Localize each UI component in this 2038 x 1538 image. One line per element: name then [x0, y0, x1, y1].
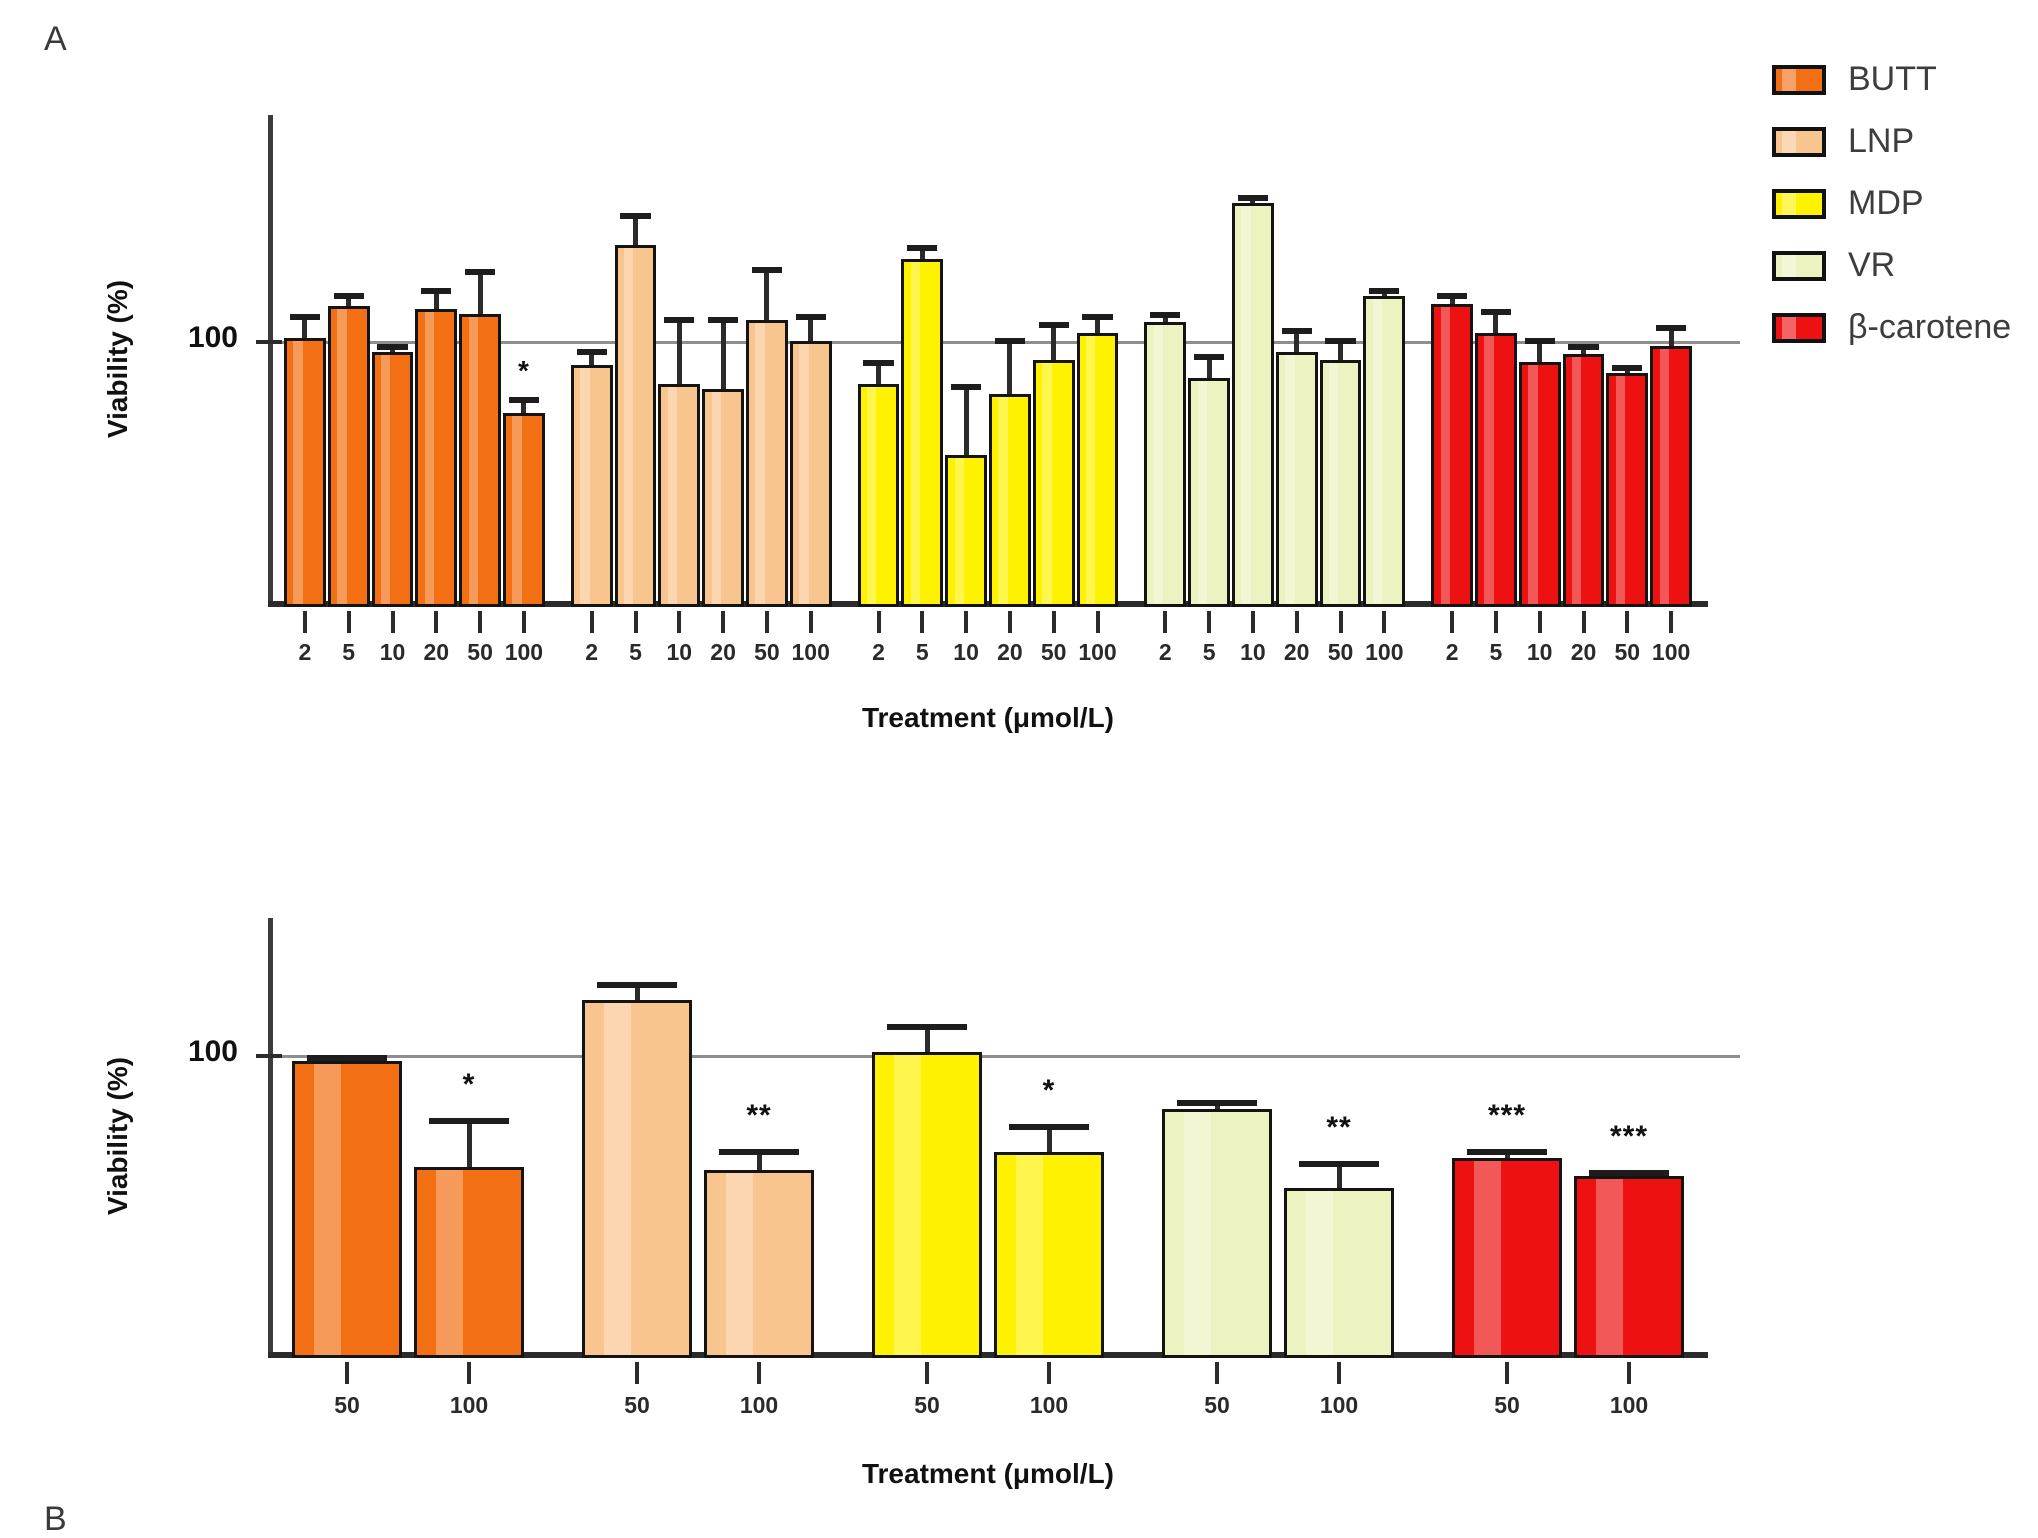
- bar-lnp-50: [582, 1000, 692, 1358]
- x-tick-mark: [1295, 611, 1299, 633]
- bar-highlight: [1306, 1191, 1333, 1355]
- bar-highlight: [755, 323, 764, 604]
- legend-swatch-highlight: [1782, 131, 1796, 153]
- bar-vr-2: [1144, 322, 1186, 607]
- bar-highlight: [1660, 349, 1669, 604]
- x-tick-mark: [1163, 611, 1167, 633]
- error-bar-cap: [1325, 338, 1355, 344]
- x-tick-mark: [809, 611, 813, 633]
- error-bar: [964, 384, 969, 456]
- bar-highlight: [1616, 376, 1625, 604]
- x-tick-mark: [964, 611, 968, 633]
- bar-vr-100: [1363, 296, 1405, 607]
- error-bar: [677, 317, 682, 383]
- legend-item-vr[interactable]: VR: [1772, 246, 1895, 285]
- x-tick-label: 50: [592, 1392, 682, 1419]
- panel-b-y-axis-title: Viability (%): [102, 916, 134, 1356]
- bar-highlight: [314, 1064, 341, 1355]
- error-bar: [721, 317, 726, 389]
- legend-item-label: BUTT: [1848, 60, 1937, 99]
- panel-b-y-tick-label-100: 100: [118, 1035, 238, 1069]
- error-bar-cap: [1150, 312, 1180, 318]
- x-tick-mark: [467, 1362, 471, 1384]
- bar-butt-10: [372, 352, 414, 607]
- bar-highlight: [894, 1055, 921, 1355]
- x-tick-mark: [1382, 611, 1386, 633]
- error-bar-cap: [1009, 1124, 1088, 1130]
- error-bar-cap: [1437, 293, 1467, 299]
- error-bar-cap: [1299, 1161, 1378, 1167]
- bar-highlight: [1184, 1112, 1211, 1355]
- bar-mdp-2: [858, 384, 900, 607]
- error-bar-cap: [1589, 1170, 1668, 1176]
- x-tick-mark: [1627, 1362, 1631, 1384]
- error-bar-cap: [1282, 328, 1312, 334]
- bar-highlight: [955, 458, 964, 604]
- x-tick-mark: [1008, 611, 1012, 633]
- bar-β-carotene-10: [1519, 362, 1561, 607]
- legend-swatch-highlight: [1782, 69, 1796, 91]
- bar-mdp-10: [945, 455, 987, 607]
- figure-root: A Viability (%) * 100 251020501002510205…: [0, 0, 2038, 1507]
- error-bar-cap: [465, 269, 495, 275]
- legend-swatch-icon: [1772, 313, 1826, 343]
- legend-item-lnp[interactable]: LNP: [1772, 122, 1914, 161]
- x-tick-label: 100: [1626, 639, 1716, 666]
- x-tick-mark: [434, 611, 438, 633]
- bar-β-carotene-100: [1574, 1176, 1684, 1358]
- error-bar-cap: [334, 293, 364, 299]
- legend-swatch-icon: [1772, 251, 1826, 281]
- error-bar-cap: [1082, 314, 1112, 320]
- bar-vr-5: [1188, 378, 1230, 607]
- bar-highlight: [799, 344, 808, 604]
- error-bar-cap: [1656, 325, 1686, 331]
- bar-lnp-100: [704, 1170, 814, 1358]
- legend-swatch-highlight: [1782, 317, 1796, 339]
- x-tick-mark: [757, 1362, 761, 1384]
- x-tick-label: 50: [882, 1392, 972, 1419]
- bar-mdp-50: [1033, 360, 1075, 607]
- bar-highlight: [469, 317, 478, 604]
- legend-item-mdp[interactable]: MDP: [1772, 184, 1924, 223]
- legend-swatch-highlight: [1782, 193, 1796, 215]
- bar-vr-100: [1284, 1188, 1394, 1358]
- bar-highlight: [512, 416, 521, 604]
- legend-item-label: LNP: [1848, 122, 1914, 161]
- x-tick-label: 100: [1004, 1392, 1094, 1419]
- error-bar-cap: [1525, 338, 1555, 344]
- error-bar-cap: [307, 1055, 386, 1061]
- bar-highlight: [604, 1003, 631, 1355]
- bar-lnp-100: [790, 341, 832, 607]
- bar-highlight: [1042, 363, 1051, 604]
- bar-β-carotene-20: [1563, 354, 1605, 607]
- bar-mdp-100: [1077, 333, 1119, 607]
- bar-vr-50: [1320, 360, 1362, 607]
- bar-highlight: [337, 309, 346, 604]
- bar-butt-100: [414, 1167, 524, 1358]
- error-bar-cap: [708, 317, 738, 323]
- panel-a-plot-area: *: [268, 115, 1708, 607]
- error-bar: [764, 267, 769, 320]
- legend-item-label: VR: [1848, 246, 1895, 285]
- bar-highlight: [1285, 355, 1294, 604]
- x-tick-mark: [1052, 611, 1056, 633]
- x-tick-mark: [1505, 1362, 1509, 1384]
- significance-marker: *: [429, 1070, 509, 1100]
- error-bar-cap: [1568, 344, 1598, 350]
- x-tick-mark: [522, 611, 526, 633]
- x-tick-mark: [391, 611, 395, 633]
- bar-lnp-50: [746, 320, 788, 607]
- x-tick-label: 100: [1294, 1392, 1384, 1419]
- error-bar-cap: [1177, 1100, 1256, 1106]
- x-tick-mark: [347, 611, 351, 633]
- x-tick-mark: [1339, 611, 1343, 633]
- significance-marker: ***: [1467, 1101, 1547, 1131]
- bar-highlight: [1373, 299, 1382, 604]
- bar-highlight: [436, 1170, 463, 1355]
- bar-highlight: [425, 312, 434, 604]
- error-bar-cap: [951, 384, 981, 390]
- bar-highlight: [624, 248, 633, 604]
- legend-item-label: MDP: [1848, 184, 1924, 223]
- bar-highlight: [381, 355, 390, 604]
- legend-swatch-icon: [1772, 127, 1826, 157]
- bar-highlight: [1329, 363, 1338, 604]
- error-bar-cap: [429, 1118, 508, 1124]
- error-bar-cap: [664, 317, 694, 323]
- x-tick-label: 50: [1172, 1392, 1262, 1419]
- bar-highlight: [580, 368, 589, 604]
- error-bar-cap: [1369, 288, 1399, 294]
- x-tick-mark: [303, 611, 307, 633]
- bar-butt-5: [328, 306, 370, 607]
- bar-highlight: [1154, 325, 1163, 604]
- error-bar: [467, 1118, 472, 1167]
- error-bar-cap: [620, 213, 650, 219]
- bar-vr-20: [1276, 352, 1318, 607]
- bar-butt-100: [503, 413, 545, 607]
- bar-lnp-10: [658, 384, 700, 607]
- error-bar-cap: [995, 338, 1025, 344]
- x-tick-mark: [1582, 611, 1586, 633]
- x-tick-mark: [877, 611, 881, 633]
- bar-highlight: [293, 341, 302, 604]
- bar-highlight: [1474, 1161, 1501, 1355]
- x-tick-mark: [1337, 1362, 1341, 1384]
- x-tick-label: 100: [714, 1392, 804, 1419]
- x-tick-mark: [478, 611, 482, 633]
- significance-marker: ***: [1589, 1122, 1669, 1152]
- bar-lnp-20: [702, 389, 744, 607]
- error-bar-cap: [597, 982, 676, 988]
- bar-butt-2: [284, 338, 326, 607]
- x-tick-label: 100: [424, 1392, 514, 1419]
- bar-butt-20: [415, 309, 457, 607]
- significance-marker: **: [1299, 1113, 1379, 1143]
- bar-vr-10: [1232, 203, 1274, 607]
- significance-marker: **: [719, 1101, 799, 1131]
- legend: BUTTLNPMDPVRβ-carotene: [1772, 60, 2038, 380]
- x-tick-mark: [677, 611, 681, 633]
- bar-highlight: [1596, 1179, 1623, 1355]
- panel-a-y-tick-label-100: 100: [118, 321, 238, 355]
- x-tick-mark: [1215, 1362, 1219, 1384]
- panel-b: B Viability (%) ************ 100 5010050…: [0, 740, 2038, 1507]
- bar-highlight: [1572, 357, 1581, 604]
- x-tick-mark: [1096, 611, 1100, 633]
- x-tick-mark: [590, 611, 594, 633]
- error-bar: [478, 269, 483, 314]
- panel-b-x-axis-title: Treatment (μmol/L): [268, 1458, 1708, 1490]
- x-tick-mark: [1047, 1362, 1051, 1384]
- panel-a-y-axis-title: Viability (%): [102, 113, 134, 605]
- legend-swatch-highlight: [1782, 255, 1796, 277]
- x-tick-mark: [765, 611, 769, 633]
- panel-a-x-axis-title: Treatment (μmol/L): [268, 702, 1708, 734]
- error-bar-cap: [1194, 354, 1224, 360]
- significance-marker: *: [1009, 1076, 1089, 1106]
- bar-mdp-5: [901, 259, 943, 607]
- x-tick-mark: [1207, 611, 1211, 633]
- bar-highlight: [1241, 206, 1250, 604]
- bar-highlight: [712, 392, 721, 604]
- error-bar-cap: [887, 1024, 966, 1030]
- error-bar-cap: [290, 314, 320, 320]
- error-bar-cap: [752, 267, 782, 273]
- x-tick-mark: [1251, 611, 1255, 633]
- bar-β-carotene-50: [1452, 1158, 1562, 1358]
- error-bar-cap: [907, 245, 937, 251]
- x-tick-mark: [920, 611, 924, 633]
- error-bar-cap: [1039, 322, 1069, 328]
- bar-highlight: [1086, 336, 1095, 604]
- bar-mdp-50: [872, 1052, 982, 1358]
- bar-β-carotene-50: [1606, 373, 1648, 607]
- bar-highlight: [1198, 381, 1207, 604]
- legend-item-label: β-carotene: [1848, 308, 2011, 347]
- error-bar-cap: [509, 397, 539, 403]
- bar-lnp-2: [571, 365, 613, 607]
- bar-highlight: [911, 262, 920, 604]
- error-bar-cap: [1612, 365, 1642, 371]
- bar-highlight: [867, 387, 876, 604]
- legend-item-carotene[interactable]: β-carotene: [1772, 308, 2011, 347]
- error-bar-cap: [863, 360, 893, 366]
- x-tick-mark: [1494, 611, 1498, 633]
- panel-b-bars-layer: ************: [268, 918, 1708, 1358]
- bar-highlight: [668, 387, 677, 604]
- significance-marker: *: [484, 357, 564, 385]
- legend-swatch-icon: [1772, 189, 1826, 219]
- bar-β-carotene-5: [1475, 333, 1517, 607]
- x-tick-label: 100: [1584, 1392, 1674, 1419]
- panel-letter-a: A: [44, 22, 67, 56]
- panel-letter-b: B: [44, 1502, 67, 1536]
- error-bar-cap: [1238, 195, 1268, 201]
- bar-highlight: [1016, 1155, 1043, 1355]
- bar-β-carotene-100: [1650, 346, 1692, 607]
- error-bar-cap: [421, 288, 451, 294]
- bar-highlight: [998, 397, 1007, 604]
- panel-a: A Viability (%) * 100 251020501002510205…: [0, 0, 2038, 720]
- error-bar-cap: [577, 349, 607, 355]
- x-tick-label: 50: [1462, 1392, 1552, 1419]
- error-bar-cap: [1481, 309, 1511, 315]
- bar-butt-50: [292, 1061, 402, 1358]
- legend-item-butt[interactable]: BUTT: [1772, 60, 1937, 99]
- error-bar: [1007, 338, 1012, 394]
- bar-highlight: [1441, 307, 1450, 604]
- x-tick-mark: [925, 1362, 929, 1384]
- x-tick-mark: [1538, 611, 1542, 633]
- error-bar-cap: [1467, 1149, 1546, 1155]
- bar-vr-50: [1162, 1109, 1272, 1358]
- bar-lnp-5: [615, 245, 657, 607]
- bar-mdp-100: [994, 1152, 1104, 1358]
- x-tick-label: 50: [302, 1392, 392, 1419]
- x-tick-mark: [635, 1362, 639, 1384]
- x-tick-mark: [1669, 611, 1673, 633]
- x-tick-mark: [721, 611, 725, 633]
- x-tick-mark: [634, 611, 638, 633]
- bar-highlight: [726, 1173, 753, 1355]
- legend-swatch-icon: [1772, 65, 1826, 95]
- bar-β-carotene-2: [1431, 304, 1473, 607]
- x-tick-mark: [345, 1362, 349, 1384]
- error-bar-cap: [796, 314, 826, 320]
- bar-highlight: [1528, 365, 1537, 604]
- x-tick-mark: [1625, 611, 1629, 633]
- x-tick-mark: [1450, 611, 1454, 633]
- panel-a-bars-layer: *: [268, 115, 1708, 607]
- bar-highlight: [1484, 336, 1493, 604]
- error-bar-cap: [377, 344, 407, 350]
- bar-mdp-20: [989, 394, 1031, 607]
- panel-b-plot-area: ************: [268, 918, 1708, 1358]
- error-bar-cap: [719, 1149, 798, 1155]
